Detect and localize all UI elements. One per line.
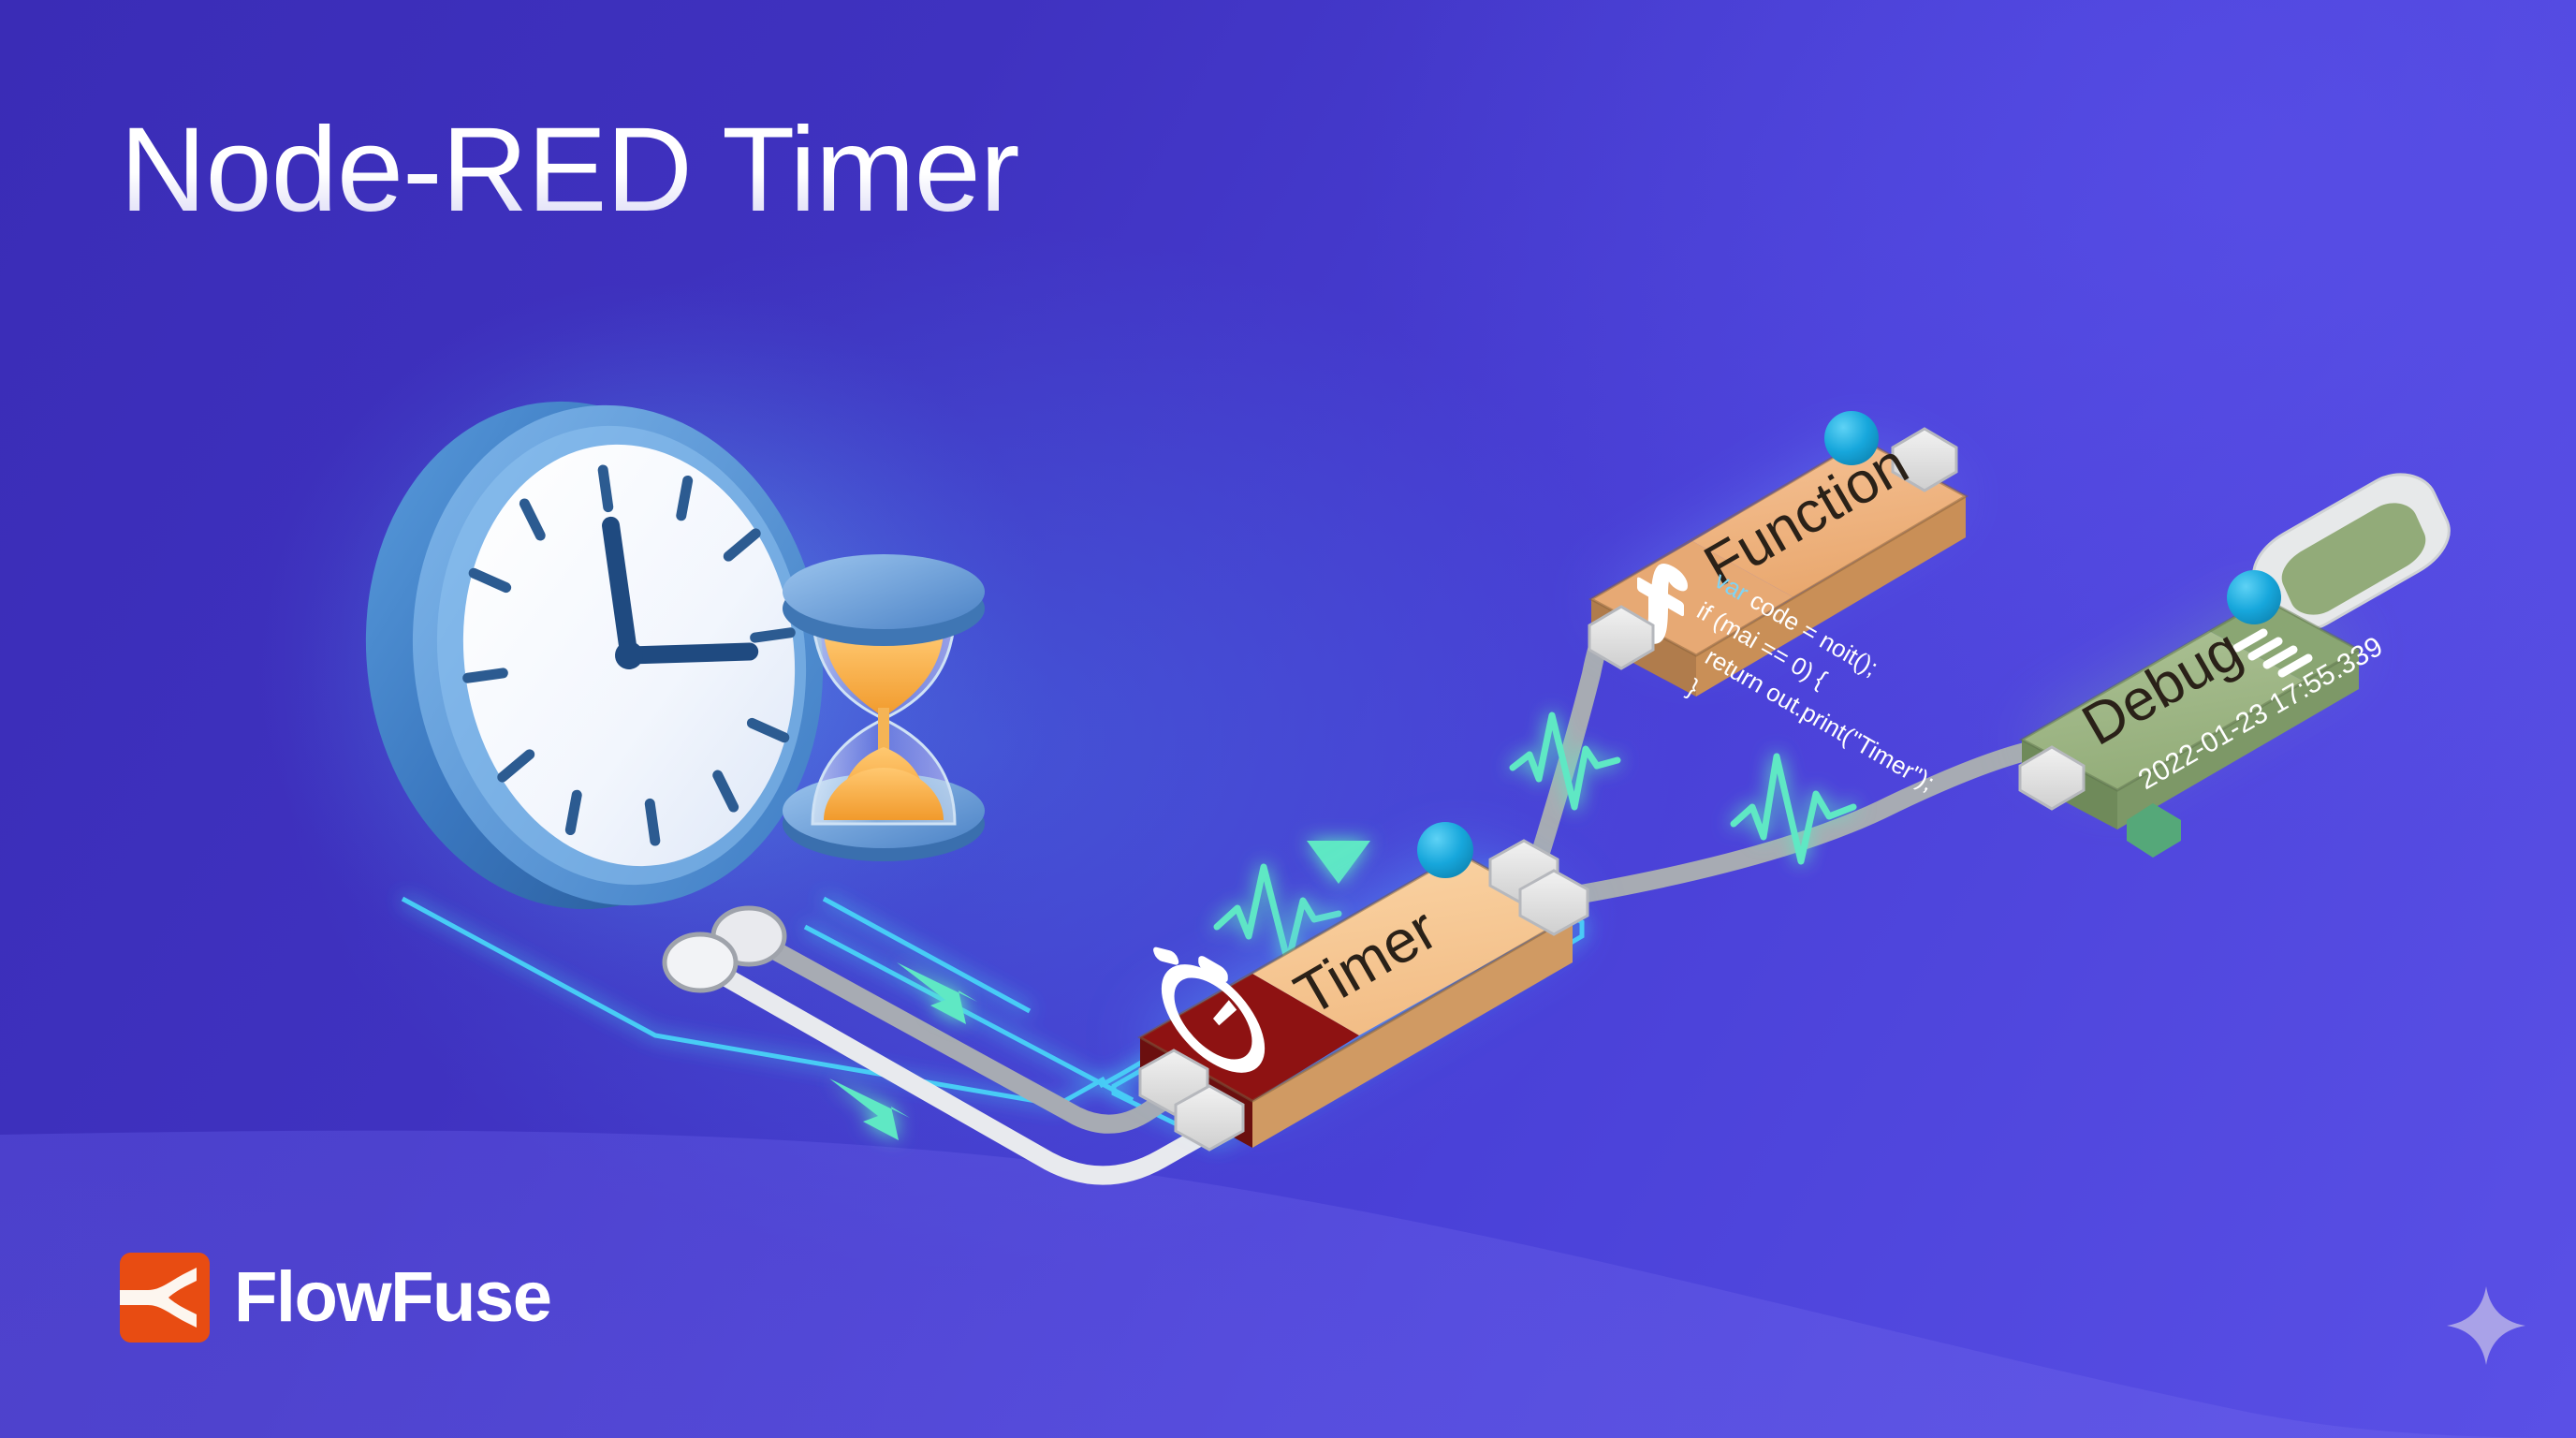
- timer-output-ports: [1490, 841, 1588, 934]
- analog-wall-clock: [333, 374, 855, 936]
- status-dot-function: [1824, 411, 1879, 465]
- function-code-snippet: var code = noit(); if (mai == 0) { retur…: [1657, 565, 1975, 827]
- flow-arrow-2: [829, 1078, 910, 1140]
- clock-glow: [253, 281, 1058, 1030]
- flow-arrow-1: [897, 962, 977, 1024]
- node-function-label: Function: [1694, 432, 1919, 599]
- debug-lines-icon: [2237, 633, 2308, 673]
- code-line-1: if (mai == 0) {: [1692, 596, 1832, 693]
- function-output-port: [1893, 429, 1956, 491]
- code-line-3: }: [1683, 673, 1705, 701]
- wire-timer-to-function: [1535, 607, 1619, 871]
- flowfuse-logo-mark: [120, 1253, 210, 1343]
- flowfuse-logo-text: FlowFuse: [234, 1262, 550, 1333]
- pulse-waveform-function: [1513, 715, 1617, 807]
- wire-clock-to-timer-a: [749, 936, 1178, 1124]
- function-input-port: [1589, 607, 1653, 668]
- function-f-icon: [1634, 547, 1685, 662]
- status-dot-debug: [2227, 570, 2281, 624]
- background-wave: [0, 1045, 2576, 1438]
- stopwatch-icon: [1151, 926, 1258, 1084]
- wire-endpoint-b: [665, 934, 736, 990]
- pulse-waveform-left: [1217, 867, 1339, 962]
- clock-ticks: [442, 448, 816, 864]
- node-timer-label: Timer: [1283, 894, 1448, 1028]
- node-function[interactable]: Function: [1589, 411, 1966, 697]
- timer-input-ports: [1140, 1050, 1243, 1150]
- wire-clock-to-timer-b: [700, 962, 1217, 1176]
- status-dot-timer: [1417, 822, 1473, 878]
- sparkle-icon: [2441, 1281, 2531, 1371]
- clock-hands: [597, 509, 750, 671]
- debug-output-timestamp: 2022-01-23 17:55.339: [2133, 631, 2388, 796]
- flowfuse-logo[interactable]: FlowFuse: [120, 1253, 550, 1343]
- debug-input-port: [2020, 747, 2084, 809]
- page-title: Node-RED Timer: [120, 110, 1018, 230]
- glow-ground-path: [402, 871, 1582, 1144]
- code-line-2: return out.print("Timer");: [1701, 642, 1939, 797]
- node-debug[interactable]: Debug: [2020, 475, 2449, 858]
- node-debug-label: Debug: [2071, 617, 2252, 758]
- poster-canvas: Timer Function: [0, 0, 2576, 1438]
- wire-endpoint-a: [713, 908, 784, 964]
- debug-status-chip: [2127, 803, 2181, 858]
- flow-arrow-3: [1307, 841, 1370, 884]
- pulse-waveform-debug: [1734, 756, 1853, 861]
- debug-tab: [2254, 475, 2450, 630]
- code-line-0: var code = noit();: [1710, 565, 1883, 682]
- node-timer[interactable]: Timer: [1140, 822, 1588, 1150]
- wire-timer-to-debug: [1554, 749, 2037, 899]
- hourglass: [783, 554, 985, 861]
